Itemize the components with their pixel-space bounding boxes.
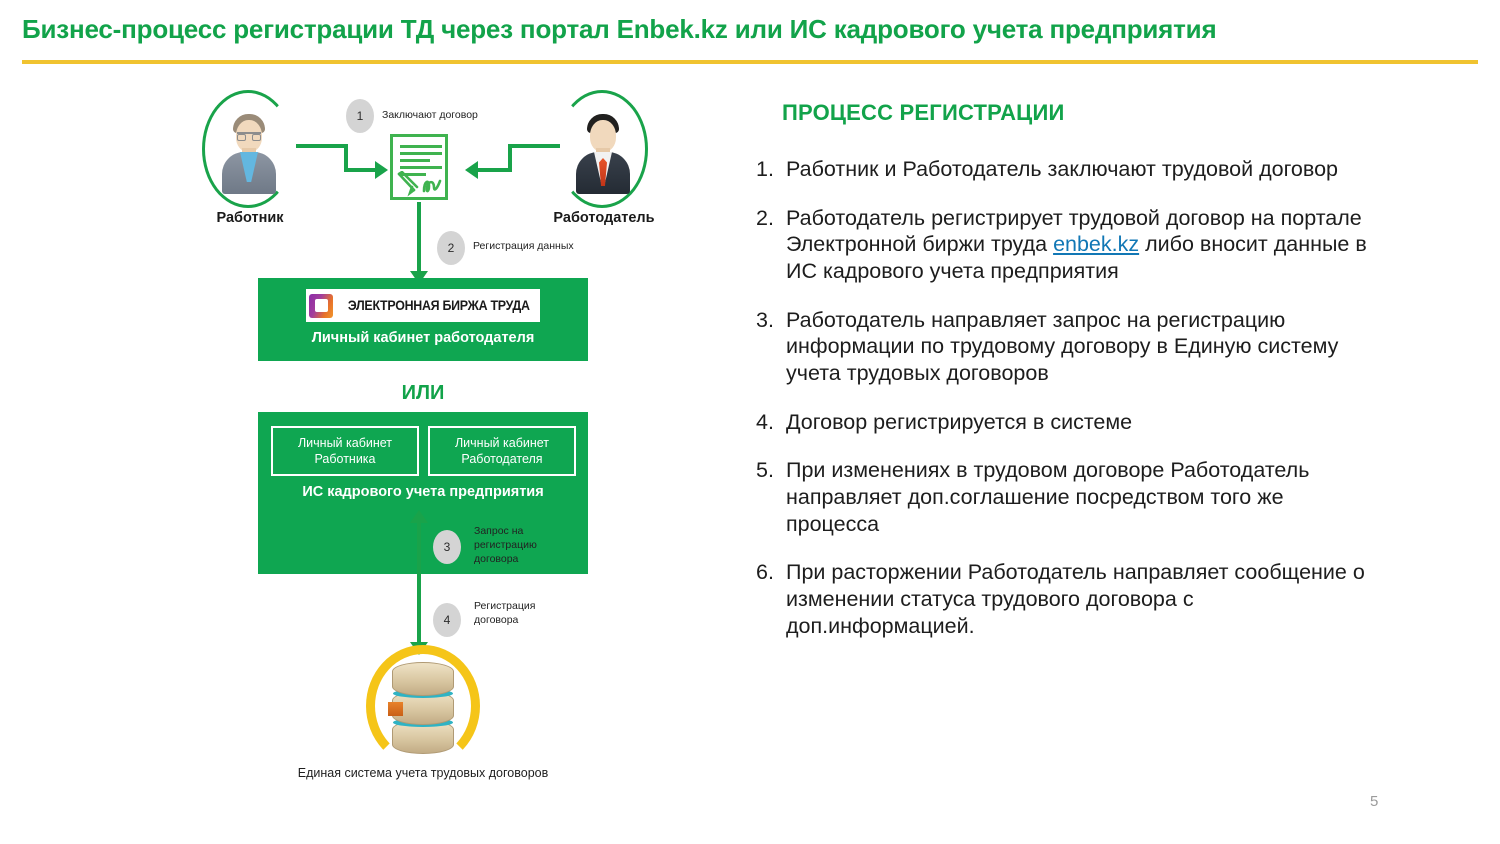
hr-card-worker[interactable]: Личный кабинет Работника [271, 426, 419, 476]
step-badge-2: 2 [437, 231, 465, 265]
list-item-text: При изменениях в трудовом договоре Работ… [786, 458, 1309, 535]
employer-label: Работодатель [514, 210, 694, 226]
list-item-number: 6. [756, 559, 774, 586]
list-item-text: Работник и Работодатель заключают трудов… [786, 157, 1338, 181]
worker-avatar-icon [220, 108, 278, 192]
list-item: 3.Работодатель направляет запрос на реги… [756, 307, 1376, 387]
actor-employer: Работодатель [556, 90, 652, 218]
connector-employer-h2 [478, 168, 512, 172]
ebt-logo-text: ЭЛЕКТРОННАЯ БИРЖА ТРУДА [348, 298, 530, 313]
step-badge-4: 4 [433, 603, 461, 637]
worker-label: Работник [160, 210, 340, 226]
hr-card-employer[interactable]: Личный кабинет Работодателя [428, 426, 576, 476]
connector-worker-h2 [344, 168, 376, 172]
actor-worker: Работник [202, 90, 298, 218]
connector-worker-h1 [296, 144, 348, 148]
step-badge-1: 1 [346, 99, 374, 133]
database-caption: Единая система учета трудовых договоров [258, 766, 588, 782]
step-label-2: Регистрация данных [473, 239, 623, 253]
portal-box-caption: Личный кабинет работодателя [258, 330, 588, 346]
page-number: 5 [1370, 793, 1378, 810]
connector-employer-h1 [508, 144, 560, 148]
employer-avatar-icon [574, 108, 632, 192]
title-divider [22, 60, 1478, 64]
panel-heading: ПРОЦЕСС РЕГИСТРАЦИИ [782, 100, 1376, 126]
list-item-text: При расторжении Работодатель направляет … [786, 560, 1365, 637]
list-item: 2.Работодатель регистрирует трудовой дог… [756, 205, 1376, 285]
list-item: 6.При расторжении Работодатель направляе… [756, 559, 1376, 639]
database-cylinder-icon [392, 662, 454, 754]
hr-box-caption: ИС кадрового учета предприятия [258, 484, 588, 500]
list-item: 5.При изменениях в трудовом договоре Раб… [756, 457, 1376, 537]
step-label-1: Заключают договор [382, 108, 522, 122]
registration-steps-list: 1.Работник и Работодатель заключают труд… [756, 156, 1376, 639]
ebt-logo: ЭЛЕКТРОННАЯ БИРЖА ТРУДА [306, 289, 540, 322]
list-item-number: 4. [756, 409, 774, 436]
list-item: 4.Договор регистрируется в системе [756, 409, 1376, 436]
list-item-number: 1. [756, 156, 774, 183]
list-item-text: Договор регистрируется в системе [786, 410, 1132, 434]
list-item-text: Работодатель направляет запрос на регист… [786, 308, 1338, 385]
enbek-kz-link[interactable]: enbek.kz [1053, 232, 1139, 256]
contract-document-icon [390, 134, 448, 200]
registration-process-panel: ПРОЦЕСС РЕГИСТРАЦИИ 1.Работник и Работод… [756, 100, 1376, 661]
arrow-employer-to-document-icon [465, 161, 478, 179]
step-label-3: Запрос на регистрацию договора [474, 524, 566, 567]
portal-box[interactable]: ЭЛЕКТРОННАЯ БИРЖА ТРУДА Личный кабинет р… [258, 278, 588, 361]
list-item: 1.Работник и Работодатель заключают труд… [756, 156, 1376, 183]
list-item-number: 5. [756, 457, 774, 484]
step-badge-3: 3 [433, 530, 461, 564]
list-item-number: 3. [756, 307, 774, 334]
ebt-logo-mark-icon [309, 294, 333, 318]
arrow-up-to-hr-icon [410, 510, 428, 523]
or-separator: ИЛИ [258, 382, 588, 405]
list-item-number: 2. [756, 205, 774, 232]
connector-hr-to-db [417, 520, 421, 648]
connector-doc-to-portal [417, 202, 421, 278]
process-diagram: Работник Работодатель [0, 72, 720, 832]
arrow-worker-to-document-icon [375, 161, 388, 179]
step-label-4: Регистрация договора [474, 599, 566, 627]
page-title: Бизнес-процесс регистрации ТД через порт… [22, 14, 1462, 45]
